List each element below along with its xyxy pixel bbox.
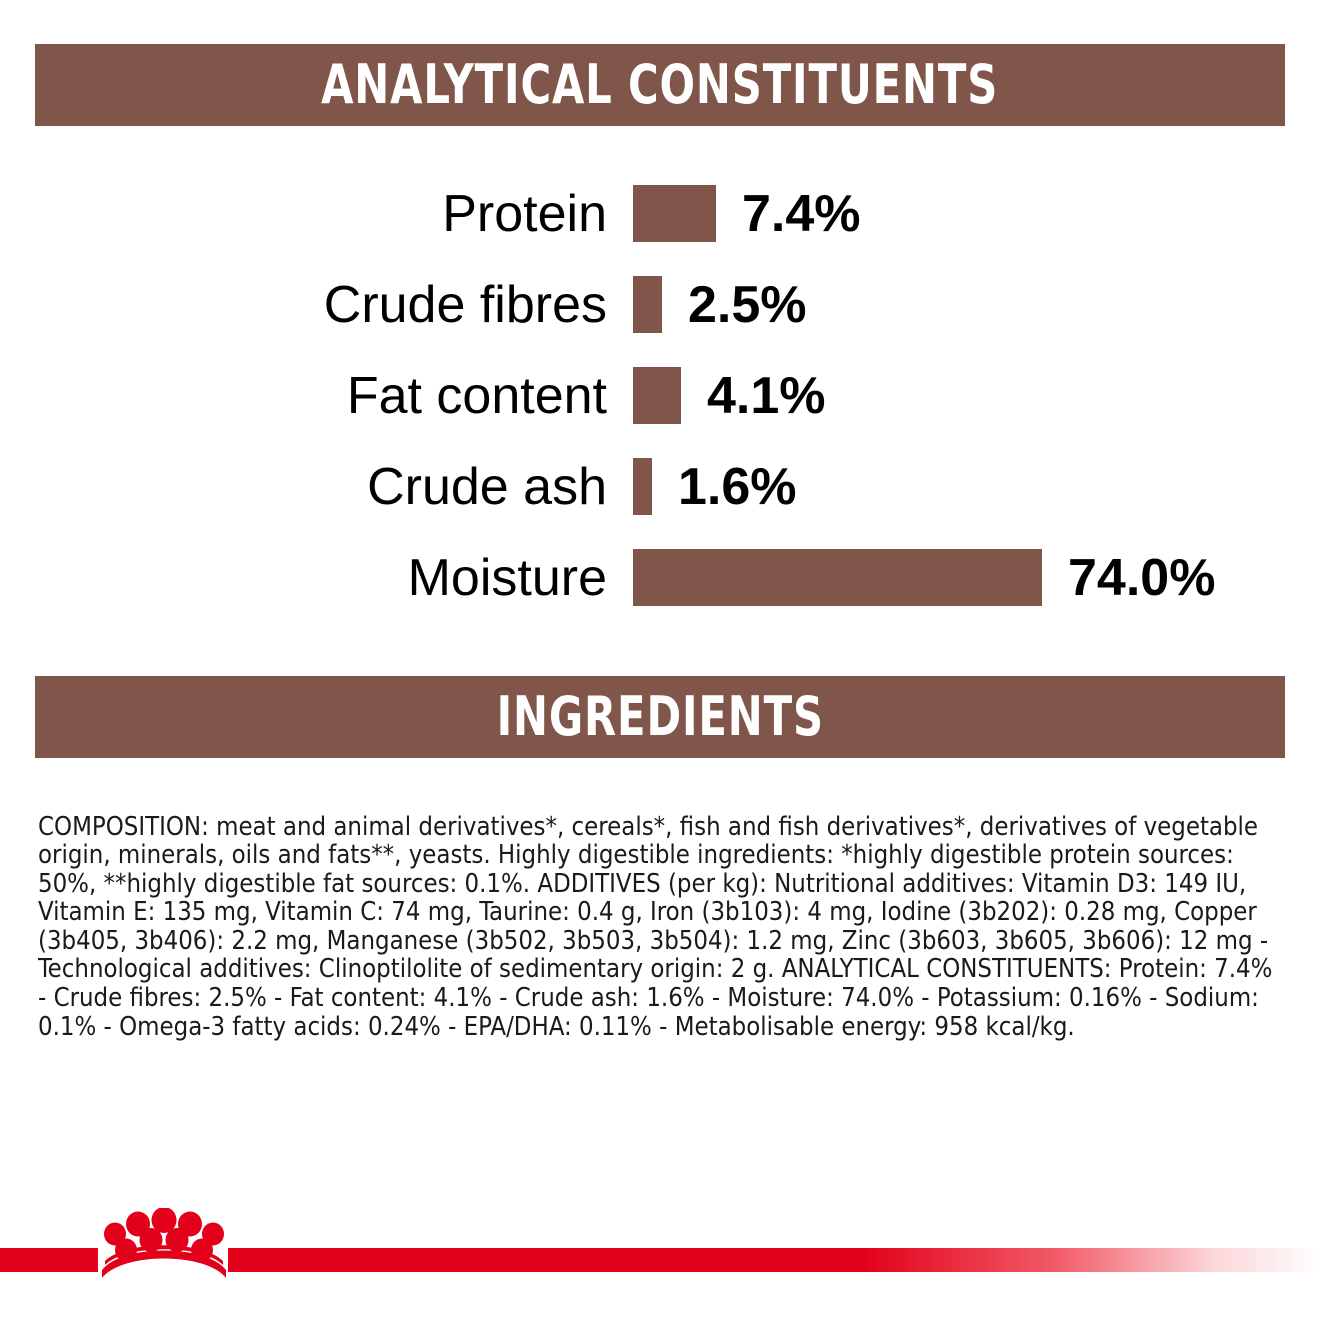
royal-canin-crown-icon (96, 1208, 232, 1284)
constituent-row-fat-content: Fat content 4.1% (0, 350, 1320, 441)
constituent-value-moisture: 74.0% (1042, 552, 1215, 604)
constituent-value-crude-fibres: 2.5% (662, 279, 807, 331)
constituent-value-protein: 7.4% (716, 188, 861, 240)
footer (0, 1240, 1320, 1274)
constituent-value-crude-ash: 1.6% (652, 461, 797, 513)
constituent-bar-crude-fibres (633, 276, 662, 333)
analytical-constituents-banner: ANALYTICAL CONSTITUENTS (35, 44, 1285, 126)
constituent-row-protein: Protein 7.4% (0, 168, 1320, 259)
constituent-label-moisture: Moisture (0, 552, 633, 604)
constituent-bar-protein (633, 185, 716, 242)
constituent-label-protein: Protein (0, 188, 633, 240)
ingredients-title: INGREDIENTS (496, 690, 823, 744)
constituent-value-fat-content: 4.1% (681, 370, 826, 422)
constituent-row-moisture: Moisture 74.0% (0, 532, 1320, 623)
constituent-row-crude-ash: Crude ash 1.6% (0, 441, 1320, 532)
constituent-label-fat-content: Fat content (0, 370, 633, 422)
ingredients-banner: INGREDIENTS (35, 676, 1285, 758)
analytical-constituents-title: ANALYTICAL CONSTITUENTS (321, 58, 998, 112)
footer-rule-left (0, 1248, 98, 1272)
footer-rule-right (228, 1248, 1320, 1272)
constituent-row-crude-fibres: Crude fibres 2.5% (0, 259, 1320, 350)
constituent-bar-crude-ash (633, 458, 652, 515)
constituent-bar-moisture (633, 549, 1042, 606)
ingredients-composition-text: COMPOSITION: meat and animal derivatives… (38, 813, 1286, 1042)
constituent-label-crude-fibres: Crude fibres (0, 279, 633, 331)
constituent-bar-fat-content (633, 367, 681, 424)
analytical-constituents-chart: Protein 7.4% Crude fibres 2.5% Fat conte… (0, 168, 1320, 623)
constituent-label-crude-ash: Crude ash (0, 461, 633, 513)
